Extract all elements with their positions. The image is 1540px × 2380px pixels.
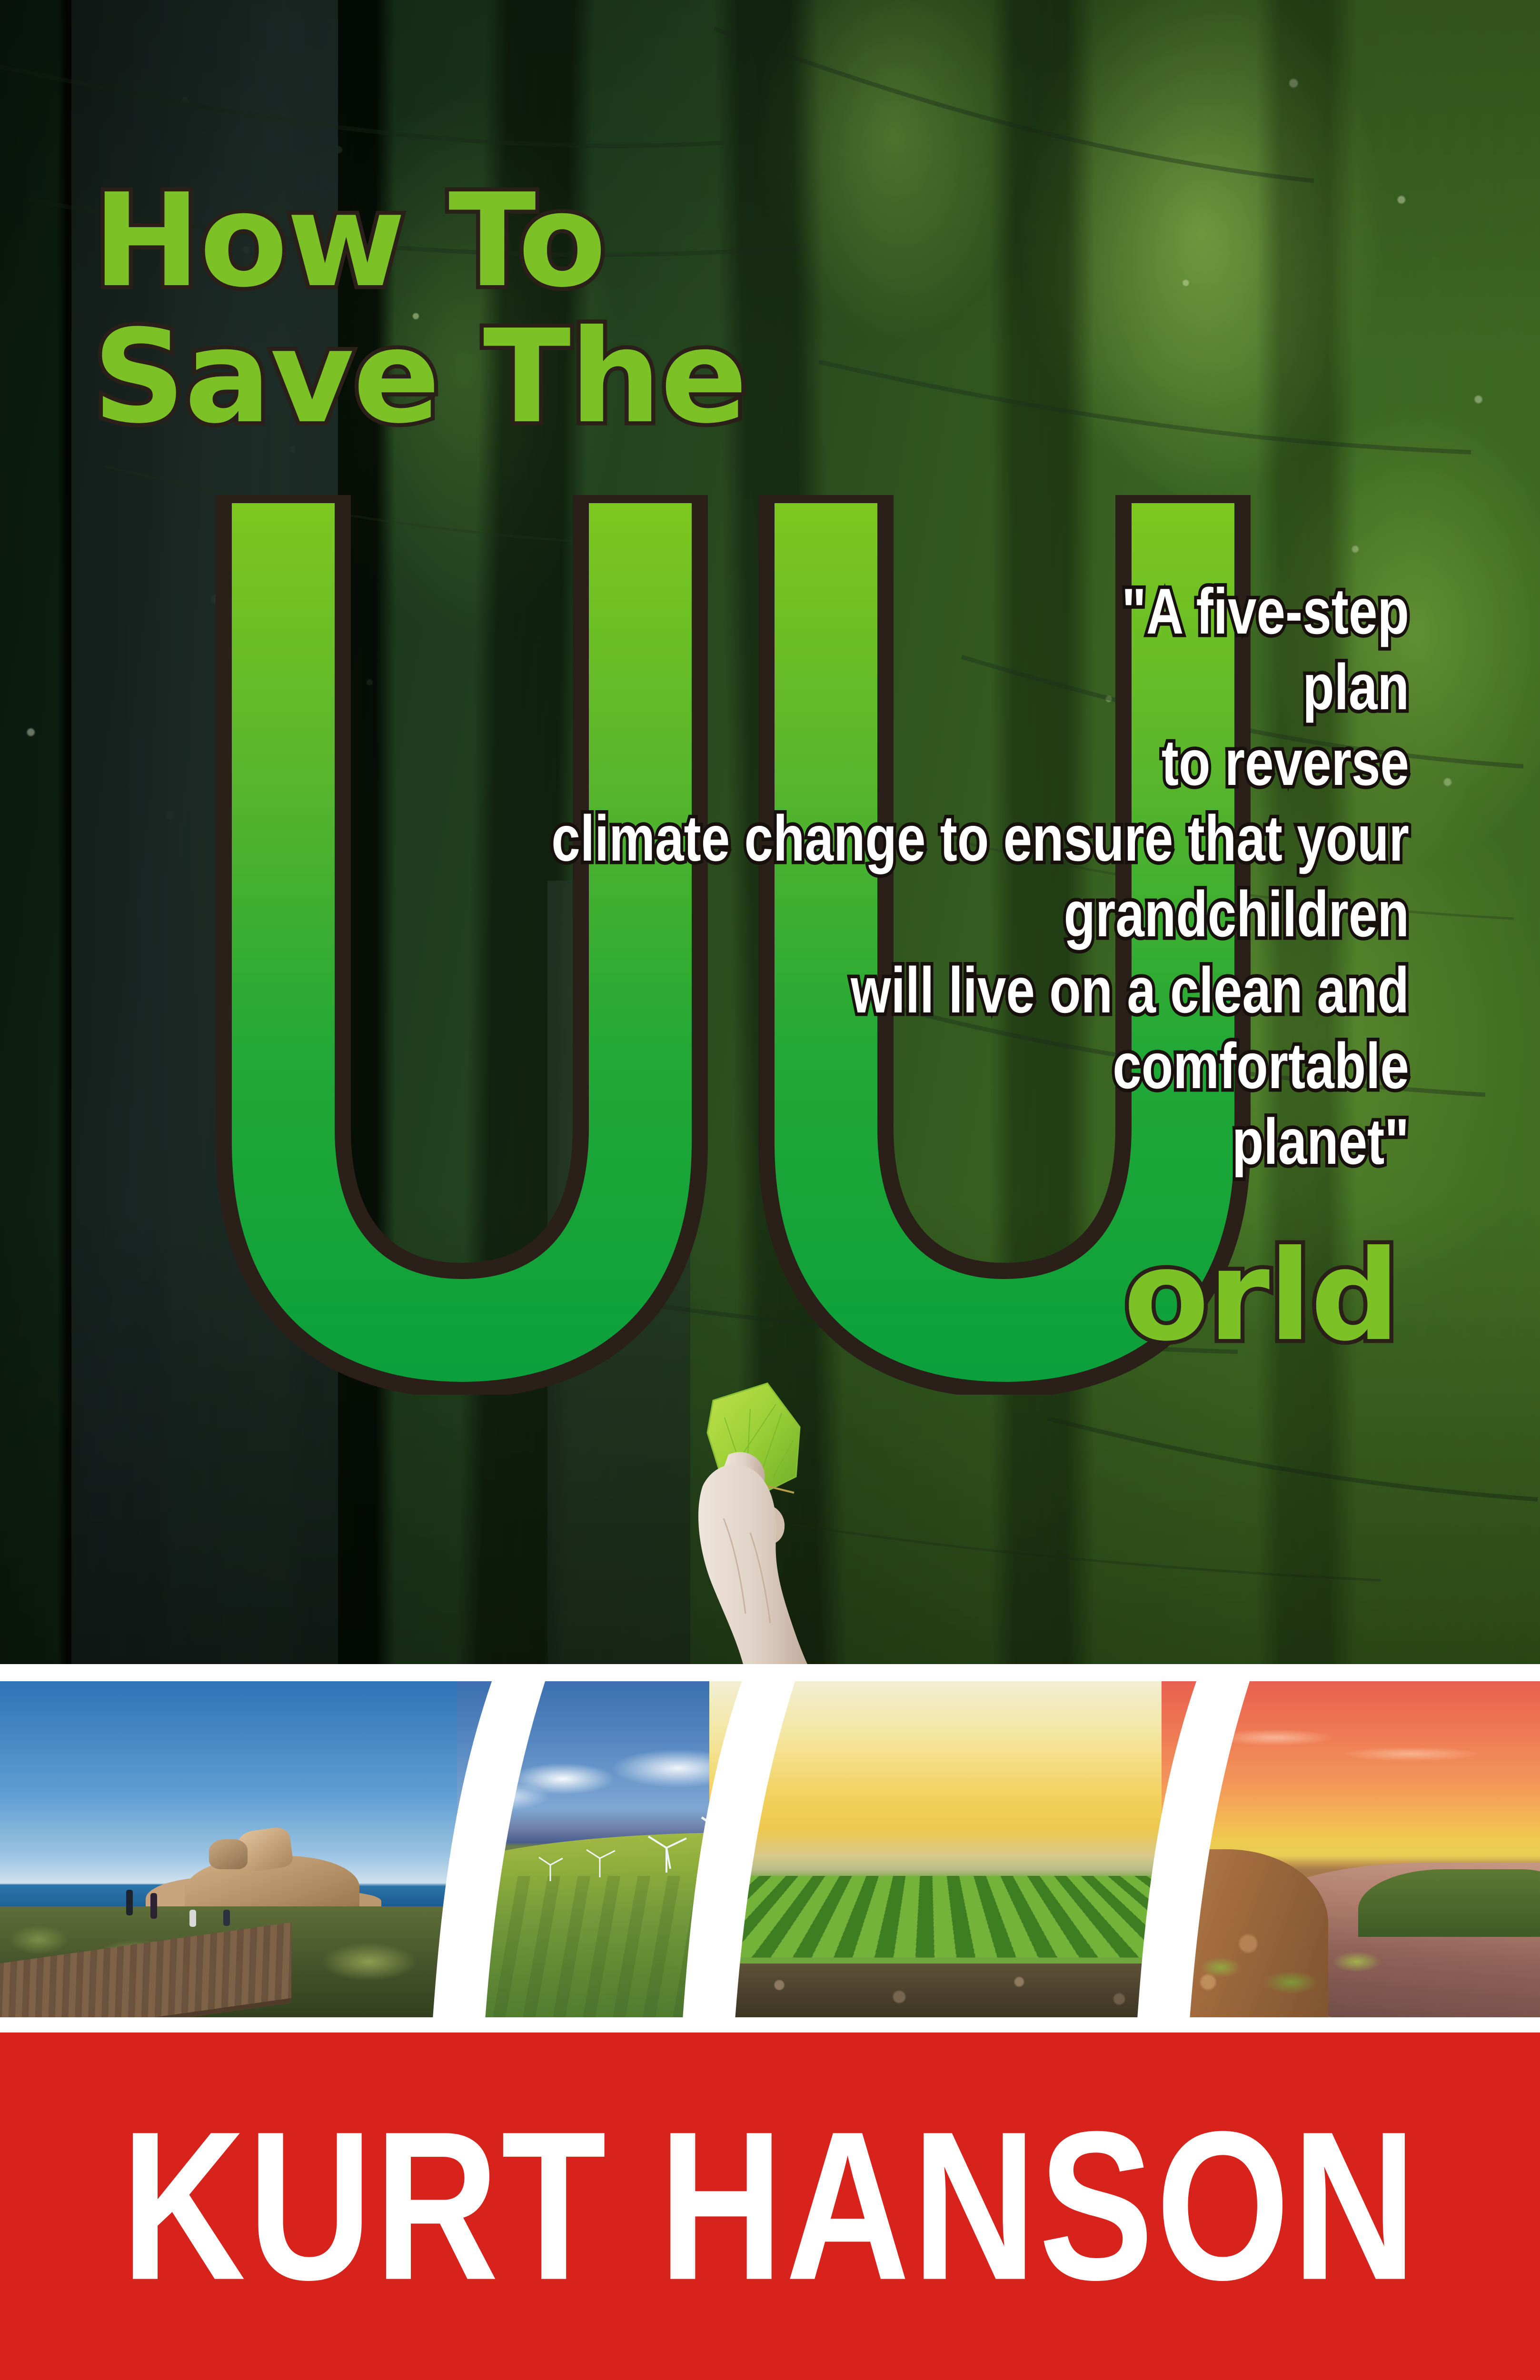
title-word-tail: orld xyxy=(1123,1234,1399,1359)
subtitle-line-4: climate change to ensure that your xyxy=(282,801,1409,876)
subtitle-line-2: plan xyxy=(282,649,1409,725)
subtitle-line-1: "A five-step xyxy=(282,574,1409,649)
author-name: KURT HANSON xyxy=(121,2111,1419,2302)
panel3-tilled-soil xyxy=(709,1963,1209,2017)
subtitle-line-5: grandchildren xyxy=(282,876,1409,952)
photo-panel-coastal-rocks-boardwalk xyxy=(0,1681,486,2017)
panel4-cloud-streaks xyxy=(1162,1708,1540,1782)
author-band: KURT HANSON xyxy=(0,2033,1540,2380)
subtitle-block: "A five-step plan to reverse climate cha… xyxy=(0,574,1409,1180)
panel1-visitor xyxy=(189,1910,196,1927)
panel1-boulder-small xyxy=(209,1839,248,1870)
subtitle-line-8: planet" xyxy=(282,1104,1409,1180)
panel1-visitor xyxy=(223,1910,230,1926)
panel1-visitor xyxy=(126,1890,133,1915)
photo-panel-crop-field-rows xyxy=(709,1681,1209,2017)
photo-strip xyxy=(0,1681,1540,2017)
forest-background-photo: How To Save The orld "A five-step plan t… xyxy=(0,0,1540,1664)
title-block: How To Save The xyxy=(93,178,746,439)
title-line-2: Save The xyxy=(93,315,746,439)
panel1-visitor xyxy=(150,1893,157,1919)
divider-gap-bottom xyxy=(0,2017,1540,2033)
book-cover: How To Save The orld "A five-step plan t… xyxy=(0,0,1540,2380)
subtitle-line-6: will live on a clean and xyxy=(282,952,1409,1028)
subtitle-line-3: to reverse xyxy=(282,725,1409,801)
panel4-tree-bank xyxy=(1358,1869,1540,1936)
divider-gap-top xyxy=(0,1664,1540,1681)
hand-holding-leaf xyxy=(657,1376,895,1664)
panel4-cliff-scrub xyxy=(1177,1930,1396,2017)
subtitle-line-7: comfortable xyxy=(282,1028,1409,1104)
photo-panel-river-sunset-cliff xyxy=(1162,1681,1540,2017)
title-line-1: How To xyxy=(93,178,746,303)
